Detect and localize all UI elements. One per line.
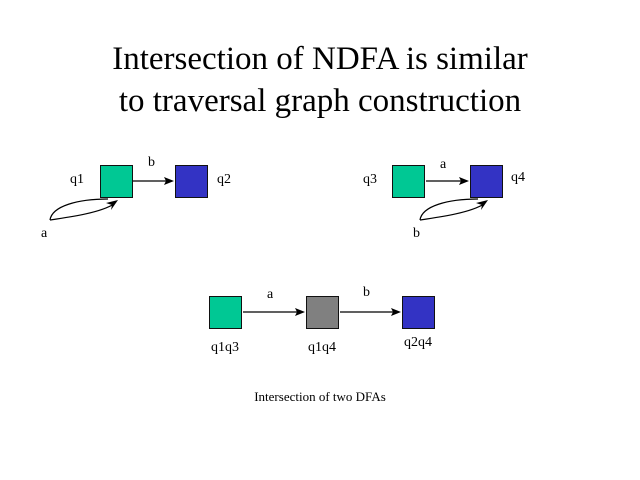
- self-loop-q4-lower: [420, 204, 484, 220]
- edge-q1-q2-arrowhead: [164, 177, 174, 185]
- self-loop-q1-upper: [50, 199, 108, 220]
- self-loop-q1-arrowhead: [106, 200, 118, 210]
- edge-q3-q4-arrowhead: [459, 177, 469, 185]
- state-label-q1q4: q1q4: [308, 340, 336, 356]
- page-title-line-2: to traversal graph construction: [0, 80, 640, 122]
- state-label-q1: q1: [70, 172, 84, 188]
- page-title: Intersection of NDFA is similar to trave…: [0, 38, 640, 122]
- self-loop-q1: [50, 199, 118, 220]
- state-box-q4[interactable]: [470, 165, 503, 198]
- state-label-q1q3: q1q3: [211, 340, 239, 356]
- edge-q1q3-to-q1q4: [243, 308, 305, 316]
- self-loop-q1-lower: [50, 204, 114, 220]
- state-box-q2q4[interactable]: [402, 296, 435, 329]
- state-box-q1q3[interactable]: [209, 296, 242, 329]
- edge-label-q1-q2: b: [148, 155, 155, 171]
- loop-label-q4: b: [413, 226, 420, 242]
- page-title-line-1: Intersection of NDFA is similar: [0, 38, 640, 80]
- edge-label-q3-q4: a: [440, 157, 446, 173]
- slide-canvas: Intersection of NDFA is similar to trave…: [0, 0, 640, 480]
- self-loop-q4: [420, 199, 488, 220]
- state-label-q2: q2: [217, 172, 231, 188]
- diagram-caption: Intersection of two DFAs: [0, 389, 640, 405]
- edge-q1q3-q1q4-arrowhead: [295, 308, 305, 316]
- edge-label-q1q3-q1q4: a: [267, 287, 273, 303]
- state-box-q1[interactable]: [100, 165, 133, 198]
- self-loop-q4-arrowhead: [476, 200, 488, 210]
- state-box-q2[interactable]: [175, 165, 208, 198]
- state-label-q3: q3: [363, 172, 377, 188]
- edge-label-q1q4-q2q4: b: [363, 285, 370, 301]
- state-box-q3[interactable]: [392, 165, 425, 198]
- edge-q1-to-q2: [133, 177, 174, 185]
- edge-q1q4-q2q4-arrowhead: [391, 308, 401, 316]
- state-label-q4: q4: [511, 170, 525, 186]
- edge-q3-to-q4: [426, 177, 469, 185]
- state-label-q2q4: q2q4: [404, 335, 432, 351]
- loop-label-q1: a: [41, 226, 47, 242]
- state-box-q1q4[interactable]: [306, 296, 339, 329]
- self-loop-q4-upper: [420, 199, 478, 220]
- edge-q1q4-to-q2q4: [340, 308, 401, 316]
